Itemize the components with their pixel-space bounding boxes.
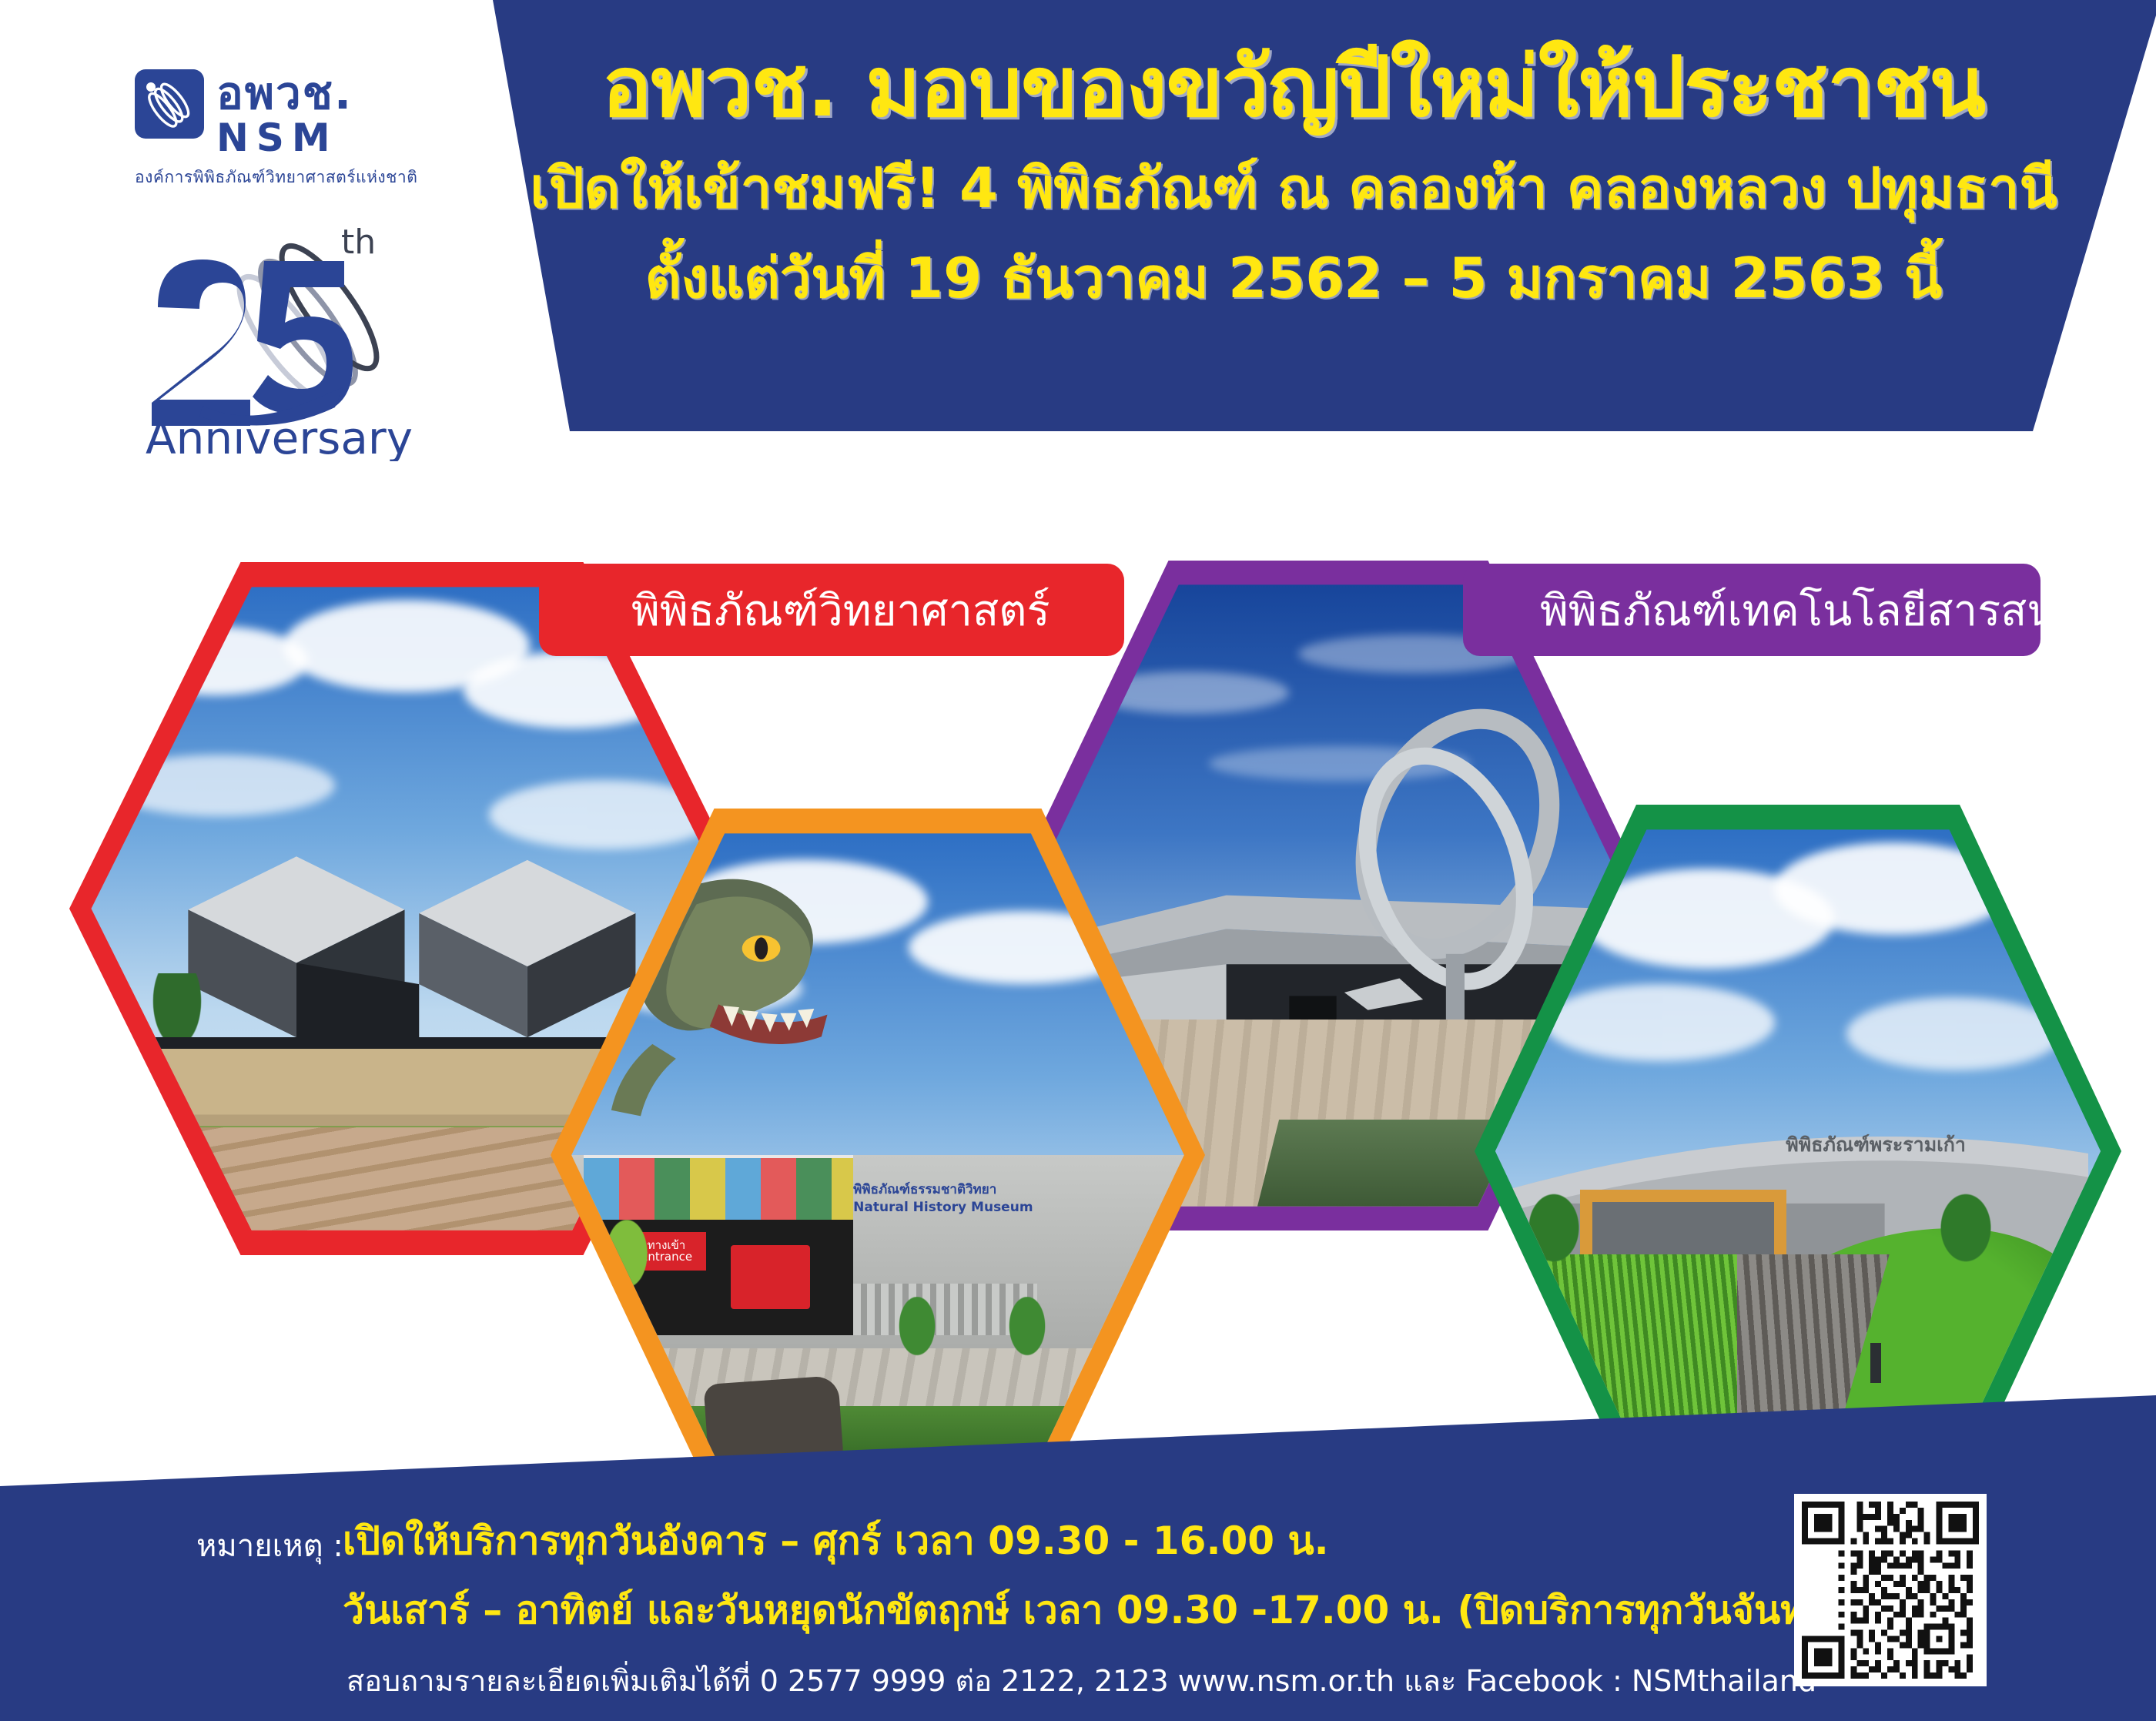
photo-sign-rama9: พิพิธภัณฑ์พระรามเก้า — [1786, 1126, 2052, 1164]
logo-acronym-en: NSM — [216, 119, 353, 157]
logo-wordmark: อพวช. NSM — [216, 69, 353, 157]
logo-org-name: องค์การพิพิธภัณฑ์วิทยาศาสตร์แห่งชาติ — [135, 165, 466, 190]
qr-code[interactable] — [1794, 1494, 1987, 1686]
header-subtitle: เปิดให้เข้าชมฟรี! 4 พิพิธภัณฑ์ ณ คลองห้า… — [530, 152, 2057, 225]
header-dateline: ตั้งแต่วันที่ 19 ธันวาคม 2562 – 5 มกราคม… — [645, 243, 1942, 315]
footer-note-label: หมายเหตุ : — [196, 1521, 343, 1570]
poster-root: อพวช. มอบของขวัญปีใหม่ให้ประชาชน เปิดให้… — [0, 0, 2156, 1721]
qr-code-icon — [1802, 1502, 1979, 1679]
svg-text:th: th — [341, 223, 376, 262]
logo-top-row: อพวช. NSM — [135, 69, 466, 157]
nsm-logo-block: อพวช. NSM องค์การพิพิธภัณฑ์วิทยาศาสตร์แห… — [135, 69, 466, 462]
museum-hex-rama9[interactable]: พิพิธภัณฑ์พระรามเก้า — [1475, 805, 2121, 1498]
photo-sign-natural-history: พิพิธภัณฑ์ธรรมชาติวิทยา Natural History … — [853, 1180, 1160, 1213]
footer-hours-weekend: วันเสาร์ – อาทิตย์ และวันหยุดนักขัตฤกษ์ … — [343, 1580, 1844, 1641]
museum-hex-natural-history[interactable]: พิพิธภัณฑ์ธรรมชาติวิทยา Natural History … — [551, 809, 1205, 1502]
header-text-block: อพวช. มอบของขวัญปีใหม่ให้ประชาชน เปิดให้… — [539, 31, 2048, 431]
museum-label-text: พิพิธภัณฑ์วิทยาศาสตร์ — [631, 576, 1050, 645]
logo-acronym-th: อพวช. — [216, 71, 353, 116]
museum-label-text: พิพิธภัณฑ์เทคโนโลยีสารสนเทศ — [1540, 576, 2127, 645]
nsm-emblem-icon — [135, 69, 204, 139]
museum-label-it[interactable]: พิพิธภัณฑ์เทคโนโลยีสารสนเทศ — [1463, 564, 2040, 656]
page-title: อพวช. มอบของขวัญปีใหม่ให้ประชาชน — [602, 37, 1985, 139]
footer-hours-weekday: เปิดให้บริการทุกวันอังคาร – ศุกร์ เวลา 0… — [343, 1511, 1329, 1572]
svg-text:Anniversary: Anniversary — [146, 412, 413, 461]
museum-label-science[interactable]: พิพิธภัณฑ์วิทยาศาสตร์ — [539, 564, 1124, 656]
museum-hex-grid: พิพิธภัณฑ์วิทยาศาสตร์ พิพิธภัณฑ์เทคโนโลย… — [0, 531, 2156, 1386]
footer-contact: สอบถามรายละเอียดเพิ่มเติมได้ที่ 0 2577 9… — [346, 1657, 1816, 1704]
anniversary-mark: th Anniversary — [135, 207, 443, 461]
